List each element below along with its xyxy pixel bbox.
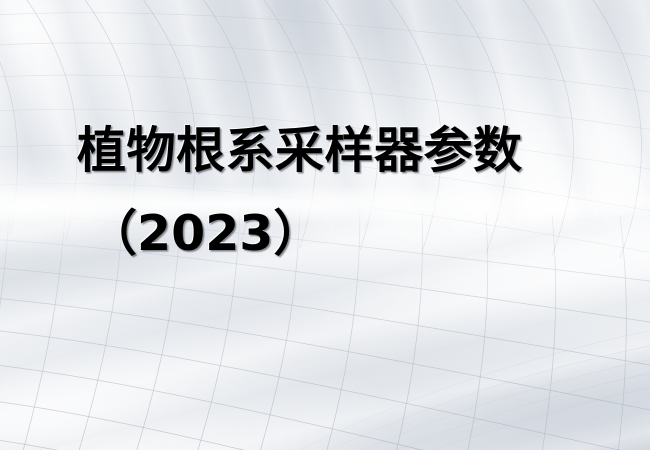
page-title-line-1: 植物根系采样器参数 [77, 124, 523, 178]
title-block: 植物根系采样器参数 （2023） [0, 0, 650, 450]
page-title-line-2: （2023） [88, 207, 322, 261]
title-slide: 植物根系采样器参数 （2023） [0, 0, 650, 450]
